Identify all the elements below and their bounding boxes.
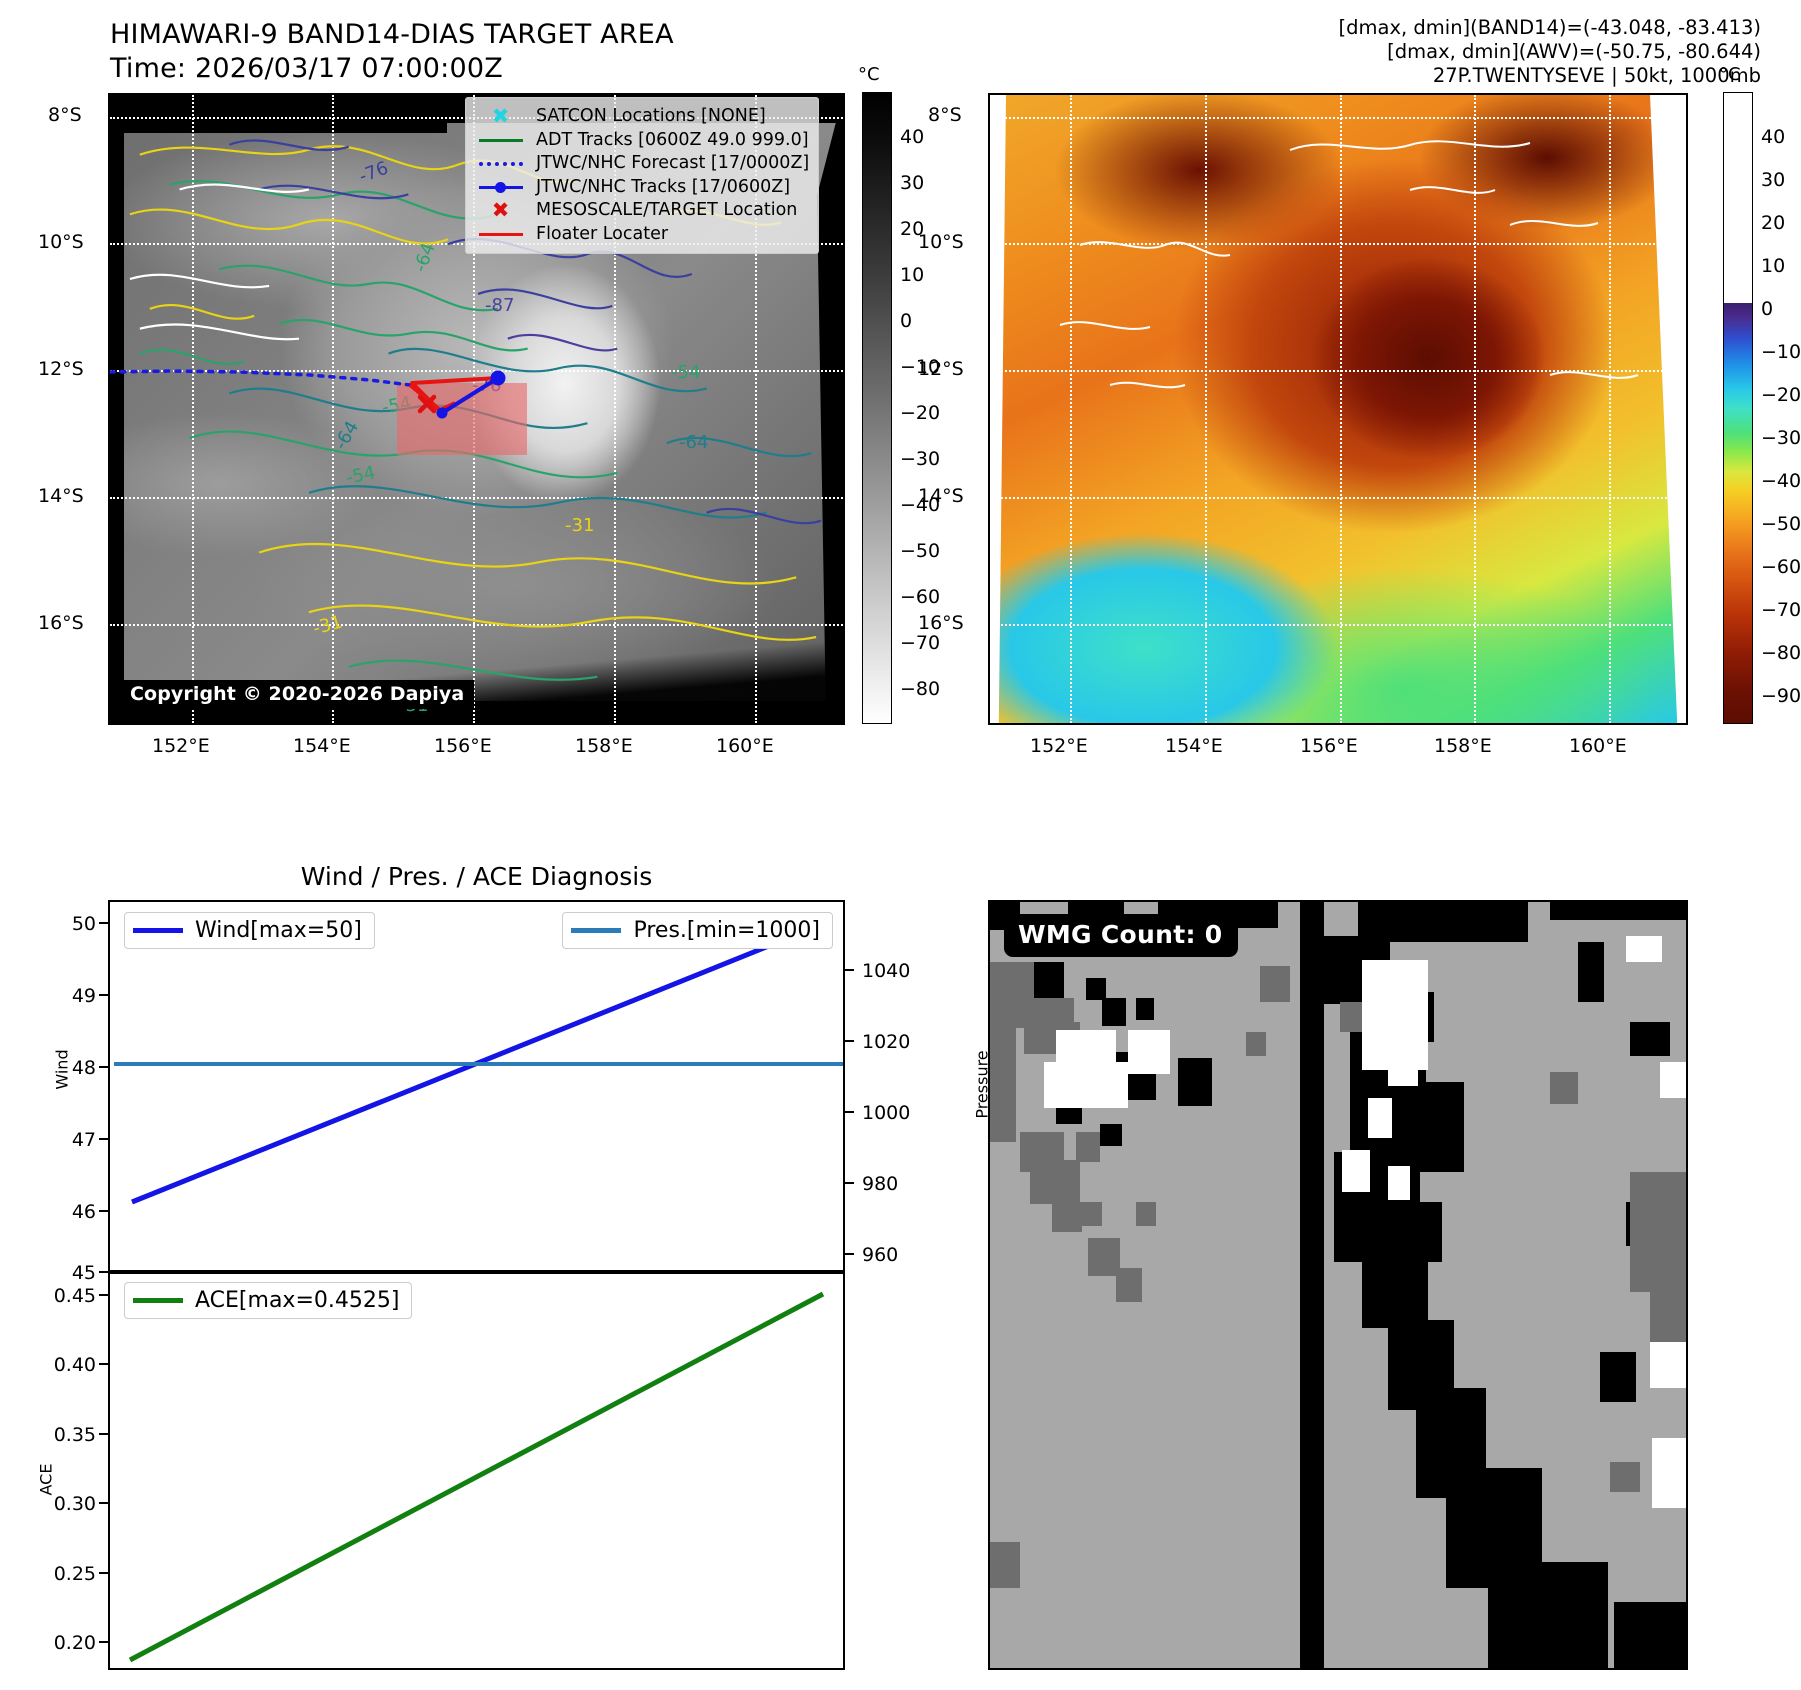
ir-lon-tick-154e: 154°E (293, 735, 351, 757)
wind-series-legend[interactable]: Wind[max=50] (124, 912, 375, 949)
wind-legend-swatch (133, 928, 183, 933)
ace-subplot[interactable]: ACE[max=0.4525] (108, 1272, 845, 1670)
awv-gridline-lon-152 (1070, 95, 1072, 723)
wind-ytick-45: 45 (52, 1262, 96, 1284)
ace-tickmark-030 (99, 1502, 108, 1504)
line-with-dot-blue-icon (473, 186, 528, 189)
awv-lon-tick-158e: 158°E (1434, 735, 1492, 757)
legend-row-floater: Floater Locater (473, 223, 809, 247)
pressure-legend-label: Pres.[min=1000] (633, 918, 820, 943)
meta-band14-range: [dmax, dmin](BAND14)=(-43.048, -83.413) (1061, 16, 1761, 40)
wind-tickmark-49 (99, 994, 108, 996)
awv-gridline-lon-156 (1340, 95, 1342, 723)
legend-label-adt: ADT Tracks [0600Z 49.0 999.0] (528, 129, 809, 152)
ace-ytick-030: 0.30 (30, 1493, 96, 1515)
awv-gridline-lon-154 (1205, 95, 1207, 723)
legend-row-satcon: ✖ SATCON Locations [NONE] (473, 105, 809, 129)
ace-legend-label: ACE[max=0.4525] (195, 1288, 399, 1313)
ace-axis-label: ACE (36, 1464, 55, 1496)
ir-lon-tick-160e: 160°E (716, 735, 774, 757)
pressure-legend-swatch (571, 928, 621, 933)
ir-cb-tick-m20: −20 (900, 402, 940, 424)
ir-colorbar-unit: °C (858, 64, 880, 85)
awv-colorbar[interactable] (1723, 92, 1753, 724)
awv-lon-tick-156e: 156°E (1300, 735, 1358, 757)
solid-line-green-icon (473, 139, 528, 142)
title-line-1: HIMAWARI-9 BAND14-DIAS TARGET AREA (110, 18, 910, 52)
pressure-ytick-960: 960 (862, 1244, 898, 1266)
ir-cb-tick-0: 0 (900, 310, 912, 332)
awv-cb-tick-m50: −50 (1761, 513, 1801, 535)
ir-cb-tick-10: 10 (900, 264, 924, 286)
ir-cb-tick-m50: −50 (900, 540, 940, 562)
wind-pressure-subplot[interactable]: Wind[max=50] Pres.[min=1000] (108, 900, 845, 1272)
wind-legend-label: Wind[max=50] (195, 918, 362, 943)
meta-awv-range: [dmax, dmin](AWV)=(-50.75, -80.644) (1061, 40, 1761, 64)
awv-gridline-lat-8 (990, 117, 1686, 119)
awv-gridline-lat-14 (990, 497, 1686, 499)
wmg-blocks (990, 902, 1688, 1670)
ir-lat-tick-16s: 16°S (38, 612, 84, 634)
awv-cb-tick-0: 0 (1761, 298, 1773, 320)
awv-gridline-lat-16 (990, 624, 1686, 626)
pressure-tickmark-1020 (845, 1040, 854, 1042)
legend-label-satcon: SATCON Locations [NONE] (528, 105, 766, 128)
legend-label-forecast: JTWC/NHC Forecast [17/0000Z] (528, 152, 809, 175)
wind-ytick-50: 50 (52, 913, 96, 935)
copyright-notice: Copyright © 2020-2026 Dapiya (122, 680, 474, 709)
ir-cb-tick-m80: −80 (900, 678, 940, 700)
ace-tickmark-035 (99, 1433, 108, 1435)
pressure-ytick-1040: 1040 (862, 960, 910, 982)
ir-cb-tick-30: 30 (900, 172, 924, 194)
ace-series-legend[interactable]: ACE[max=0.4525] (124, 1282, 412, 1319)
awv-cb-tick-m20: −20 (1761, 384, 1801, 406)
awv-lat-tick-16s: 16°S (918, 612, 964, 634)
pressure-tickmark-960 (845, 1253, 854, 1255)
ir-lat-tick-14s: 14°S (38, 485, 84, 507)
wmg-cloud-cluster-panel[interactable]: WMG Count: 0 (988, 900, 1688, 1670)
wind-ytick-49: 49 (52, 985, 96, 1007)
wind-tickmark-47 (99, 1138, 108, 1140)
ir-lon-tick-152e: 152°E (152, 735, 210, 757)
awv-lat-tick-12s: 12°S (918, 358, 964, 380)
ace-legend-swatch (133, 1298, 183, 1303)
legend-row-forecast: JTWC/NHC Forecast [17/0000Z] (473, 152, 809, 176)
wind-ytick-48: 48 (52, 1057, 96, 1079)
wind-pressure-series (110, 902, 845, 1272)
title-line-2: Time: 2026/03/17 07:00:00Z (110, 52, 910, 86)
legend-row-adt: ADT Tracks [0600Z 49.0 999.0] (473, 129, 809, 153)
ir-cb-tick-m30: −30 (900, 448, 940, 470)
diagnosis-chart-title: Wind / Pres. / ACE Diagnosis (108, 862, 845, 891)
page-title: HIMAWARI-9 BAND14-DIAS TARGET AREA Time:… (110, 18, 910, 86)
awv-lon-tick-160e: 160°E (1569, 735, 1627, 757)
meta-storm-summary: 27P.TWENTYSEVE | 50kt, 1000mb (1061, 64, 1761, 88)
awv-coastlines (990, 95, 1688, 725)
awv-gridline-lat-12 (990, 370, 1686, 372)
solid-line-red-icon (473, 233, 528, 236)
ir-cb-tick-m60: −60 (900, 586, 940, 608)
wind-tickmark-46 (99, 1210, 108, 1212)
pressure-ytick-1000: 1000 (862, 1102, 910, 1124)
ace-tickmark-045 (99, 1294, 108, 1296)
wmg-count-badge: WMG Count: 0 (1004, 914, 1238, 957)
legend-label-tracks: JTWC/NHC Tracks [17/0600Z] (528, 176, 790, 199)
pressure-tickmark-1040 (845, 969, 854, 971)
awv-cb-tick-m80: −80 (1761, 642, 1801, 664)
awv-lat-tick-10s: 10°S (918, 231, 964, 253)
x-marker-cyan-icon: ✖ (473, 106, 528, 127)
awv-cb-tick-10: 10 (1761, 255, 1785, 277)
ace-ytick-040: 0.40 (30, 1354, 96, 1376)
ace-tickmark-020 (99, 1641, 108, 1643)
awv-cb-tick-m40: −40 (1761, 470, 1801, 492)
awv-cb-tick-m90: −90 (1761, 685, 1801, 707)
awv-gridline-lon-160 (1609, 95, 1611, 723)
ir-lat-tick-10s: 10°S (38, 231, 84, 253)
wind-ytick-47: 47 (52, 1129, 96, 1151)
ir-cb-tick-m70: −70 (900, 632, 940, 654)
ir-lon-tick-158e: 158°E (575, 735, 633, 757)
x-marker-red-icon: ✖ (473, 200, 528, 221)
pressure-series-legend[interactable]: Pres.[min=1000] (562, 912, 833, 949)
awv-gridline-lat-10 (990, 243, 1686, 245)
ir-lon-tick-156e: 156°E (434, 735, 492, 757)
wind-tickmark-45 (99, 1271, 108, 1273)
pressure-ytick-1020: 1020 (862, 1031, 910, 1053)
legend-row-mesoscale: ✖ MESOSCALE/TARGET Location (473, 199, 809, 223)
awv-cb-tick-40: 40 (1761, 126, 1785, 148)
ir-lat-tick-12s: 12°S (38, 358, 84, 380)
awv-colorbar-unit: °C (1719, 64, 1741, 85)
ace-series (110, 1274, 845, 1670)
pressure-tickmark-980 (845, 1182, 854, 1184)
awv-satellite-panel[interactable] (988, 93, 1688, 725)
ace-tickmark-040 (99, 1363, 108, 1365)
awv-lat-tick-8s: 8°S (928, 104, 962, 126)
wind-ytick-46: 46 (52, 1201, 96, 1223)
ir-lat-tick-8s: 8°S (48, 104, 82, 126)
wind-tickmark-50 (99, 922, 108, 924)
pressure-ytick-980: 980 (862, 1173, 898, 1195)
ir-satellite-panel[interactable]: -54 -64 -76 -76 -87 -64 -54 -54 -31 -31 … (108, 93, 845, 725)
awv-cb-tick-30: 30 (1761, 169, 1785, 191)
metadata-block: [dmax, dmin](BAND14)=(-43.048, -83.413) … (1061, 16, 1761, 88)
ir-map-legend[interactable]: ✖ SATCON Locations [NONE] ADT Tracks [06… (465, 97, 819, 254)
awv-cb-tick-m30: −30 (1761, 427, 1801, 449)
ir-cb-tick-40: 40 (900, 126, 924, 148)
dotted-line-blue-icon (473, 162, 528, 166)
pressure-tickmark-1000 (845, 1111, 854, 1113)
ace-ytick-025: 0.25 (30, 1563, 96, 1585)
ace-ytick-045: 0.45 (30, 1285, 96, 1307)
legend-label-floater: Floater Locater (528, 223, 668, 246)
legend-label-mesoscale: MESOSCALE/TARGET Location (528, 199, 797, 222)
ir-colorbar[interactable] (862, 92, 892, 724)
ace-ytick-020: 0.20 (30, 1632, 96, 1654)
awv-cb-tick-m10: −10 (1761, 341, 1801, 363)
awv-cb-tick-m60: −60 (1761, 556, 1801, 578)
awv-lon-tick-152e: 152°E (1030, 735, 1088, 757)
awv-cb-tick-20: 20 (1761, 212, 1785, 234)
ace-ytick-035: 0.35 (30, 1424, 96, 1446)
awv-gridline-lon-158 (1474, 95, 1476, 723)
awv-lat-tick-14s: 14°S (918, 485, 964, 507)
awv-lon-tick-154e: 154°E (1165, 735, 1223, 757)
wind-tickmark-48 (99, 1066, 108, 1068)
legend-row-tracks: JTWC/NHC Tracks [17/0600Z] (473, 176, 809, 200)
awv-cb-tick-m70: −70 (1761, 599, 1801, 621)
ace-tickmark-025 (99, 1572, 108, 1574)
